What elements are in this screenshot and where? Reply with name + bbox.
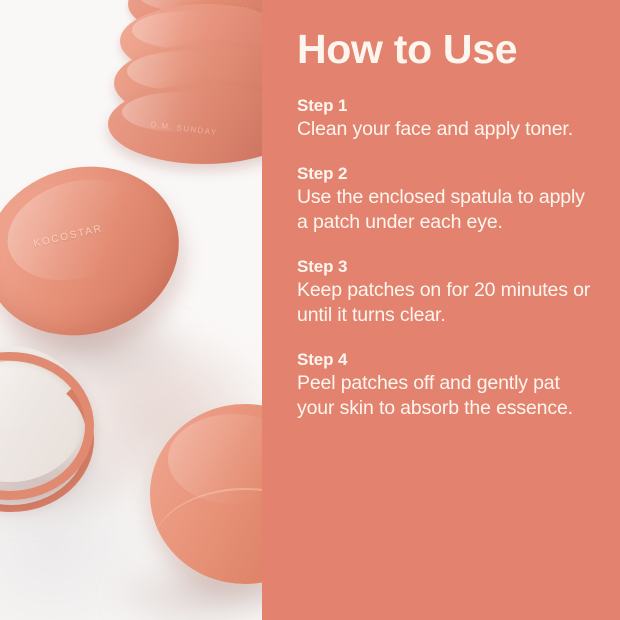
jar-gloss [132, 11, 242, 49]
step-label-2: Step 2 [297, 163, 596, 184]
step-text-3: Keep patches on for 20 minutes or until … [297, 278, 596, 328]
instructions-panel: How to Use Step 1 Clean your face and ap… [262, 0, 620, 620]
step-label-4: Step 4 [297, 349, 596, 370]
page-title: How to Use [297, 0, 596, 71]
kocostar-lid-top [0, 143, 200, 359]
bottom-jar-lid [150, 404, 262, 584]
step-block-3: Step 3 Keep patches on for 20 minutes or… [297, 256, 596, 328]
step-block-1: Step 1 Clean your face and apply toner. [297, 95, 596, 142]
product-instruction-graphic: HYDROGEL O.M. SUNDAY KOCOSTAR [0, 0, 620, 620]
step-text-1: Clean your face and apply toner. [297, 117, 596, 142]
step-label-1: Step 1 [297, 95, 596, 116]
step-label-3: Step 3 [297, 256, 596, 277]
jar-emboss-primary-text: O.M. SUNDAY [150, 120, 218, 137]
stacked-jars-group: HYDROGEL O.M. SUNDAY [118, 0, 262, 163]
step-text-2: Use the enclosed spatula to apply a patc… [297, 185, 596, 235]
step-block-4: Step 4 Peel patches off and gently pat y… [297, 349, 596, 421]
step-block-2: Step 2 Use the enclosed spatula to apply… [297, 163, 596, 235]
product-photo-panel: HYDROGEL O.M. SUNDAY KOCOSTAR [0, 0, 262, 620]
step-text-4: Peel patches off and gently pat your ski… [297, 371, 596, 421]
